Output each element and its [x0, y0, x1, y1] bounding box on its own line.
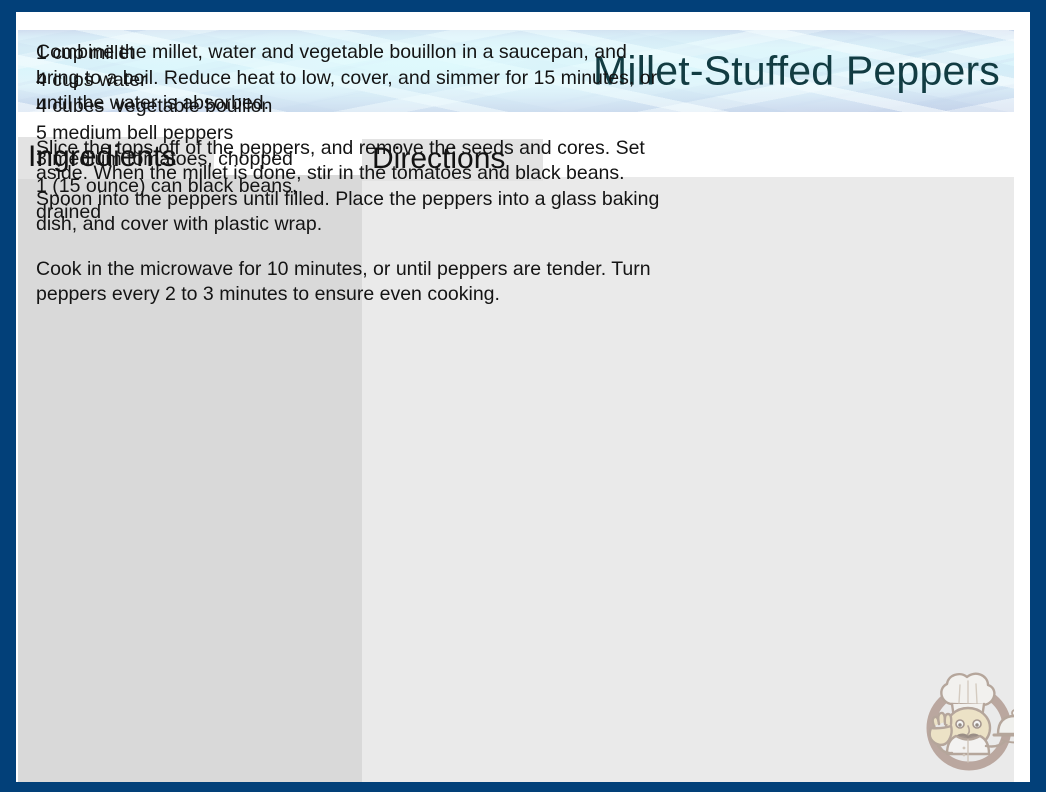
recipe-card: Millet-Stuffed Peppers: [0, 0, 1046, 792]
recipe-page: Millet-Stuffed Peppers: [16, 12, 1030, 782]
direction-step: Combine the millet, water and vegetable …: [36, 40, 668, 117]
chef-mascot-logo: [914, 658, 1030, 776]
direction-step: Cook in the microwave for 10 minutes, or…: [36, 257, 668, 308]
direction-step: Slice the tops off of the peppers, and r…: [36, 136, 668, 238]
directions-steps: Combine the millet, water and vegetable …: [36, 40, 668, 327]
page-right-gutter: [1014, 12, 1030, 782]
